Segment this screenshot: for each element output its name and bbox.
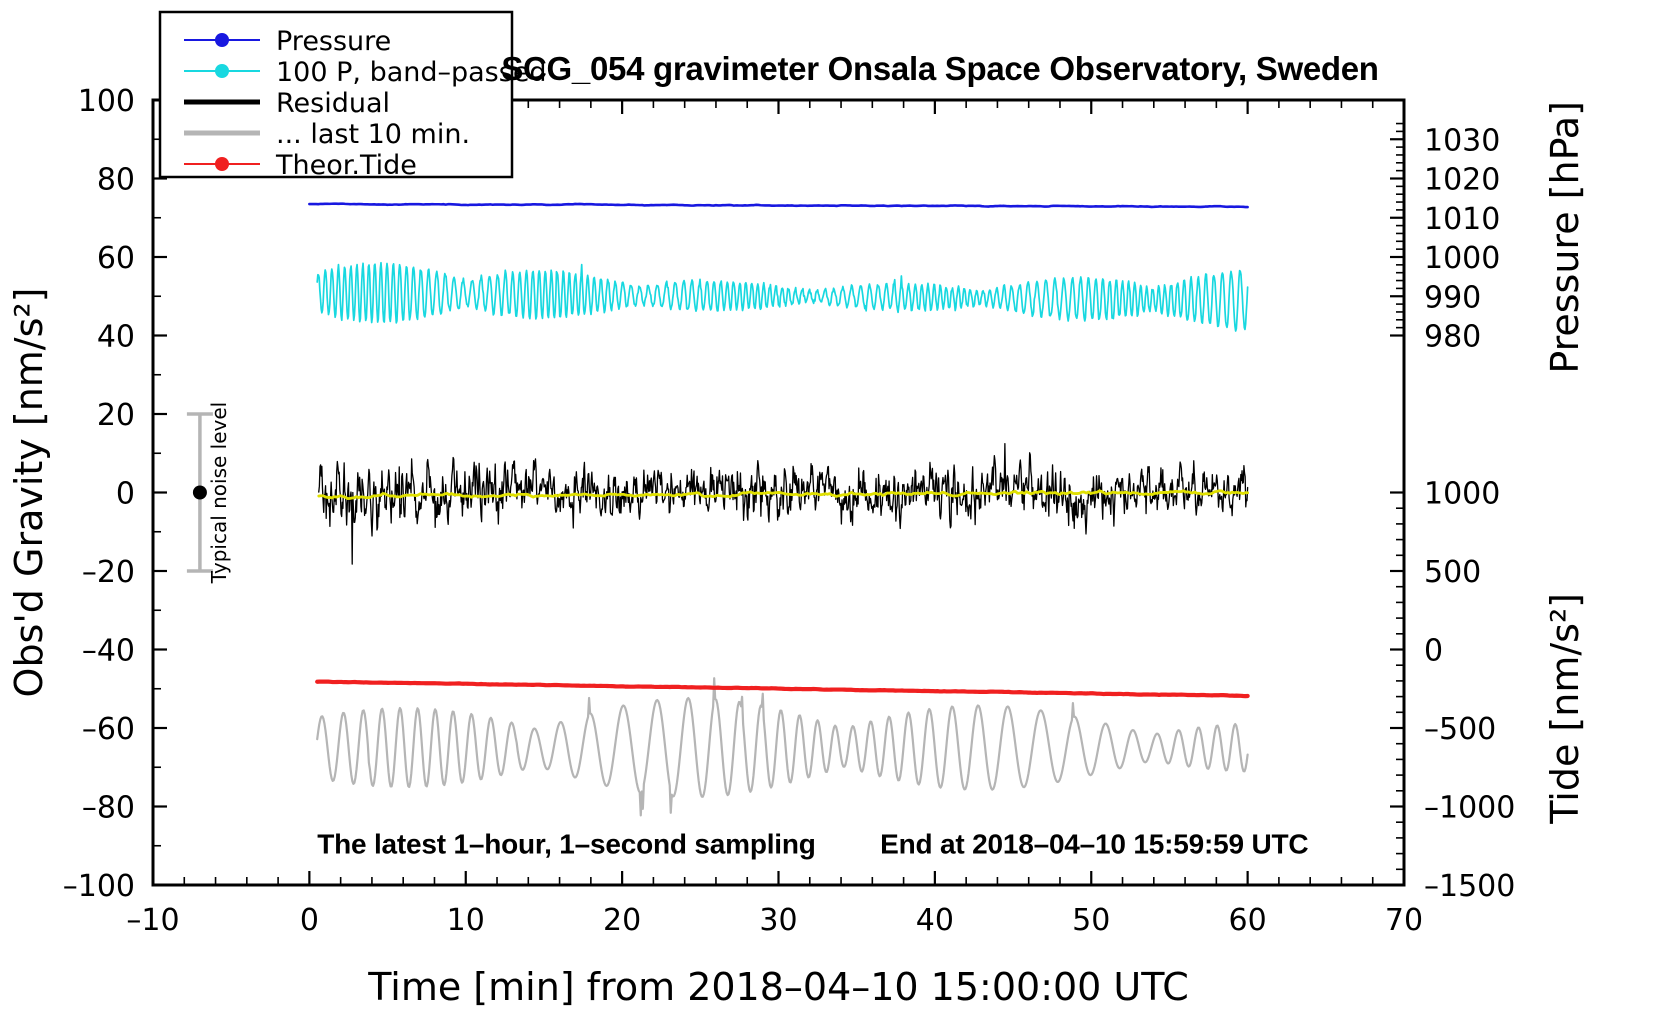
- noise-bar-center-dot: [193, 486, 207, 500]
- x-tick-label: 30: [759, 903, 797, 938]
- chart-canvas: –10010203040506070–100–80–60–40–20020406…: [0, 0, 1660, 1020]
- x-tick-label: 10: [447, 903, 485, 938]
- y-tick-label: 0: [116, 477, 135, 512]
- tide-tick-label: –1500: [1424, 869, 1515, 904]
- y-tick-label: –20: [82, 555, 135, 590]
- gravimeter-chart: –10010203040506070–100–80–60–40–20020406…: [0, 0, 1660, 1020]
- pressure-tick-label: 1020: [1424, 163, 1500, 198]
- x-tick-label: 20: [603, 903, 641, 938]
- x-axis-title: Time [min] from 2018–04–10 15:00:00 UTC: [367, 965, 1189, 1009]
- legend-marker-dot: [215, 33, 229, 47]
- legend-item-label: ... last 10 min.: [276, 119, 470, 150]
- y-tick-label: 20: [97, 398, 135, 433]
- y-tick-label: 80: [97, 163, 135, 198]
- y-tick-label: –80: [82, 791, 135, 826]
- y-tick-label: 60: [97, 241, 135, 276]
- y-tick-label: 100: [78, 84, 135, 119]
- tide-tick-label: 500: [1424, 555, 1481, 590]
- y-tick-label: –60: [82, 712, 135, 747]
- tide-tick-label: 1000: [1424, 477, 1500, 512]
- pressure-tick-label: 990: [1424, 280, 1481, 315]
- y-axis-title: Obs'd Gravity [nm/s²]: [7, 288, 51, 698]
- x-tick-label: 40: [916, 903, 954, 938]
- x-tick-label: 60: [1229, 903, 1267, 938]
- y-tick-label: –100: [63, 869, 135, 904]
- x-tick-label: 70: [1385, 903, 1423, 938]
- x-tick-label: –10: [126, 903, 179, 938]
- legend[interactable]: Pressure100 P, band–passedResidual... la…: [160, 12, 547, 181]
- end-time-note: End at 2018–04–10 15:59:59 UTC: [880, 829, 1308, 860]
- legend-item-label: Pressure: [276, 26, 391, 57]
- sampling-note: The latest 1–hour, 1–second sampling: [317, 829, 816, 860]
- page-title: SCG_054 gravimeter Onsala Space Observat…: [501, 50, 1378, 87]
- pressure-tick-label: 980: [1424, 320, 1481, 355]
- tide-tick-label: –500: [1424, 712, 1496, 747]
- x-tick-label: 0: [300, 903, 319, 938]
- tide-tick-label: –1000: [1424, 791, 1515, 826]
- pressure-axis-title: Pressure [hPa]: [1543, 101, 1587, 374]
- pressure-tick-label: 1000: [1424, 241, 1500, 276]
- x-tick-label: 50: [1072, 903, 1110, 938]
- legend-marker-dot: [215, 157, 229, 171]
- legend-marker-dot: [215, 64, 229, 78]
- tide-tick-label: 0: [1424, 634, 1443, 669]
- tide-axis-title: Tide [nm/s²]: [1543, 593, 1587, 825]
- legend-item-label: Residual: [276, 88, 390, 119]
- pressure-tick-label: 1030: [1424, 123, 1500, 158]
- pressure-tick-label: 1010: [1424, 202, 1500, 237]
- y-tick-label: 40: [97, 320, 135, 355]
- legend-item-label: Theor.Tide: [275, 150, 417, 181]
- noise-level-label: Typical noise level: [207, 402, 231, 584]
- y-tick-label: –40: [82, 634, 135, 669]
